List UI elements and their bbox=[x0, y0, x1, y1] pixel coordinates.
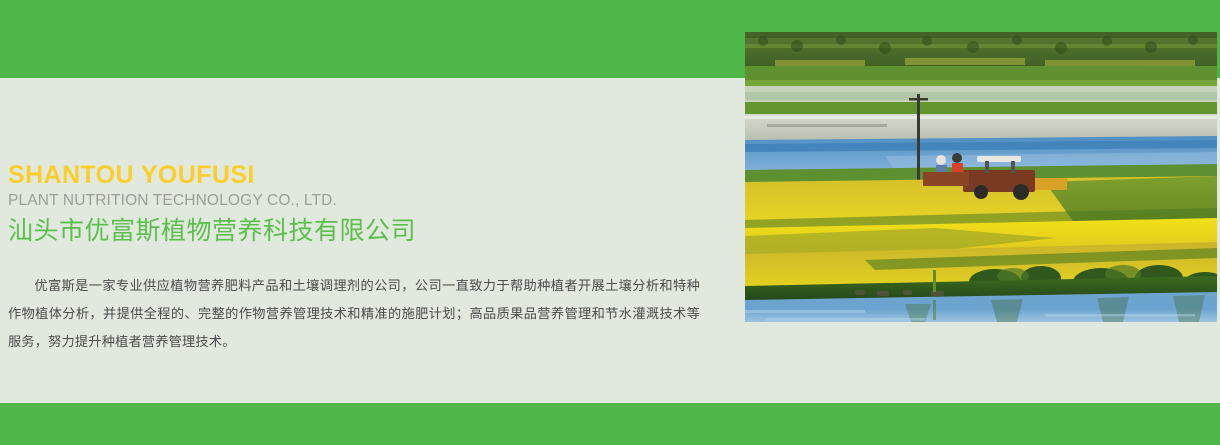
page-root: SHANTOU YOUFUSI PLANT NUTRITION TECHNOLO… bbox=[0, 0, 1220, 445]
farmland-photo-illustration bbox=[745, 32, 1217, 322]
brand-name-english: SHANTOU YOUFUSI bbox=[0, 160, 730, 190]
brand-tagline-english: PLANT NUTRITION TECHNOLOGY CO., LTD. bbox=[0, 190, 730, 211]
brand-name-chinese: 汕头市优富斯植物营养科技有限公司 bbox=[0, 214, 730, 248]
company-intro-block: SHANTOU YOUFUSI PLANT NUTRITION TECHNOLO… bbox=[0, 160, 730, 356]
bottom-green-band bbox=[0, 403, 1220, 445]
farmland-photo bbox=[745, 32, 1217, 322]
company-description-paragraph: 优富斯是一家专业供应植物营养肥料产品和土壤调理剂的公司，公司一直致力于帮助种植者… bbox=[0, 272, 700, 356]
